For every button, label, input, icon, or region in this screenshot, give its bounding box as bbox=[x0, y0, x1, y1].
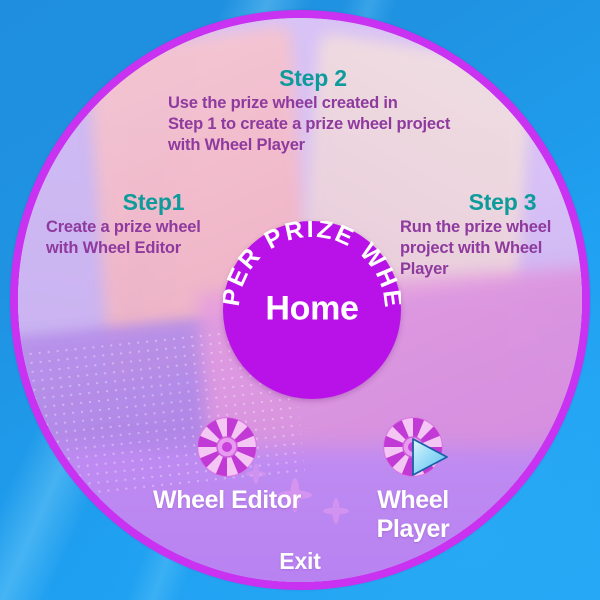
step-3-title: Step 3 bbox=[400, 190, 590, 214]
step-2-body: Use the prize wheel created in Step 1 to… bbox=[168, 93, 538, 155]
home-label: Home bbox=[223, 290, 401, 329]
round-app-window: Step 2 Use the prize wheel created in St… bbox=[10, 10, 590, 590]
step-3-body: Run the prize wheel project with Wheel P… bbox=[400, 217, 590, 279]
home-button[interactable]: SUPER PRIZE WHEEL Home bbox=[223, 221, 401, 399]
wheel-player-label: Wheel Player bbox=[338, 486, 488, 544]
exit-button[interactable]: Exit bbox=[18, 548, 582, 575]
wheel-player-launcher[interactable]: Wheel Player bbox=[338, 416, 488, 544]
wheel-editor-launcher[interactable]: Wheel Editor bbox=[152, 416, 302, 515]
step-3-block: Step 3 Run the prize wheel project with … bbox=[400, 190, 590, 279]
play-triangle-icon[interactable] bbox=[408, 436, 450, 478]
step-2-block: Step 2 Use the prize wheel created in St… bbox=[168, 66, 538, 155]
step-2-title: Step 2 bbox=[88, 66, 538, 90]
prize-wheel-icon[interactable] bbox=[196, 416, 258, 478]
wheel-editor-label: Wheel Editor bbox=[152, 486, 302, 515]
prize-wheel-play-icon[interactable] bbox=[382, 416, 444, 478]
prize-wheel-app: Step 2 Use the prize wheel created in St… bbox=[0, 0, 600, 600]
step-1-title: Step1 bbox=[46, 190, 261, 214]
